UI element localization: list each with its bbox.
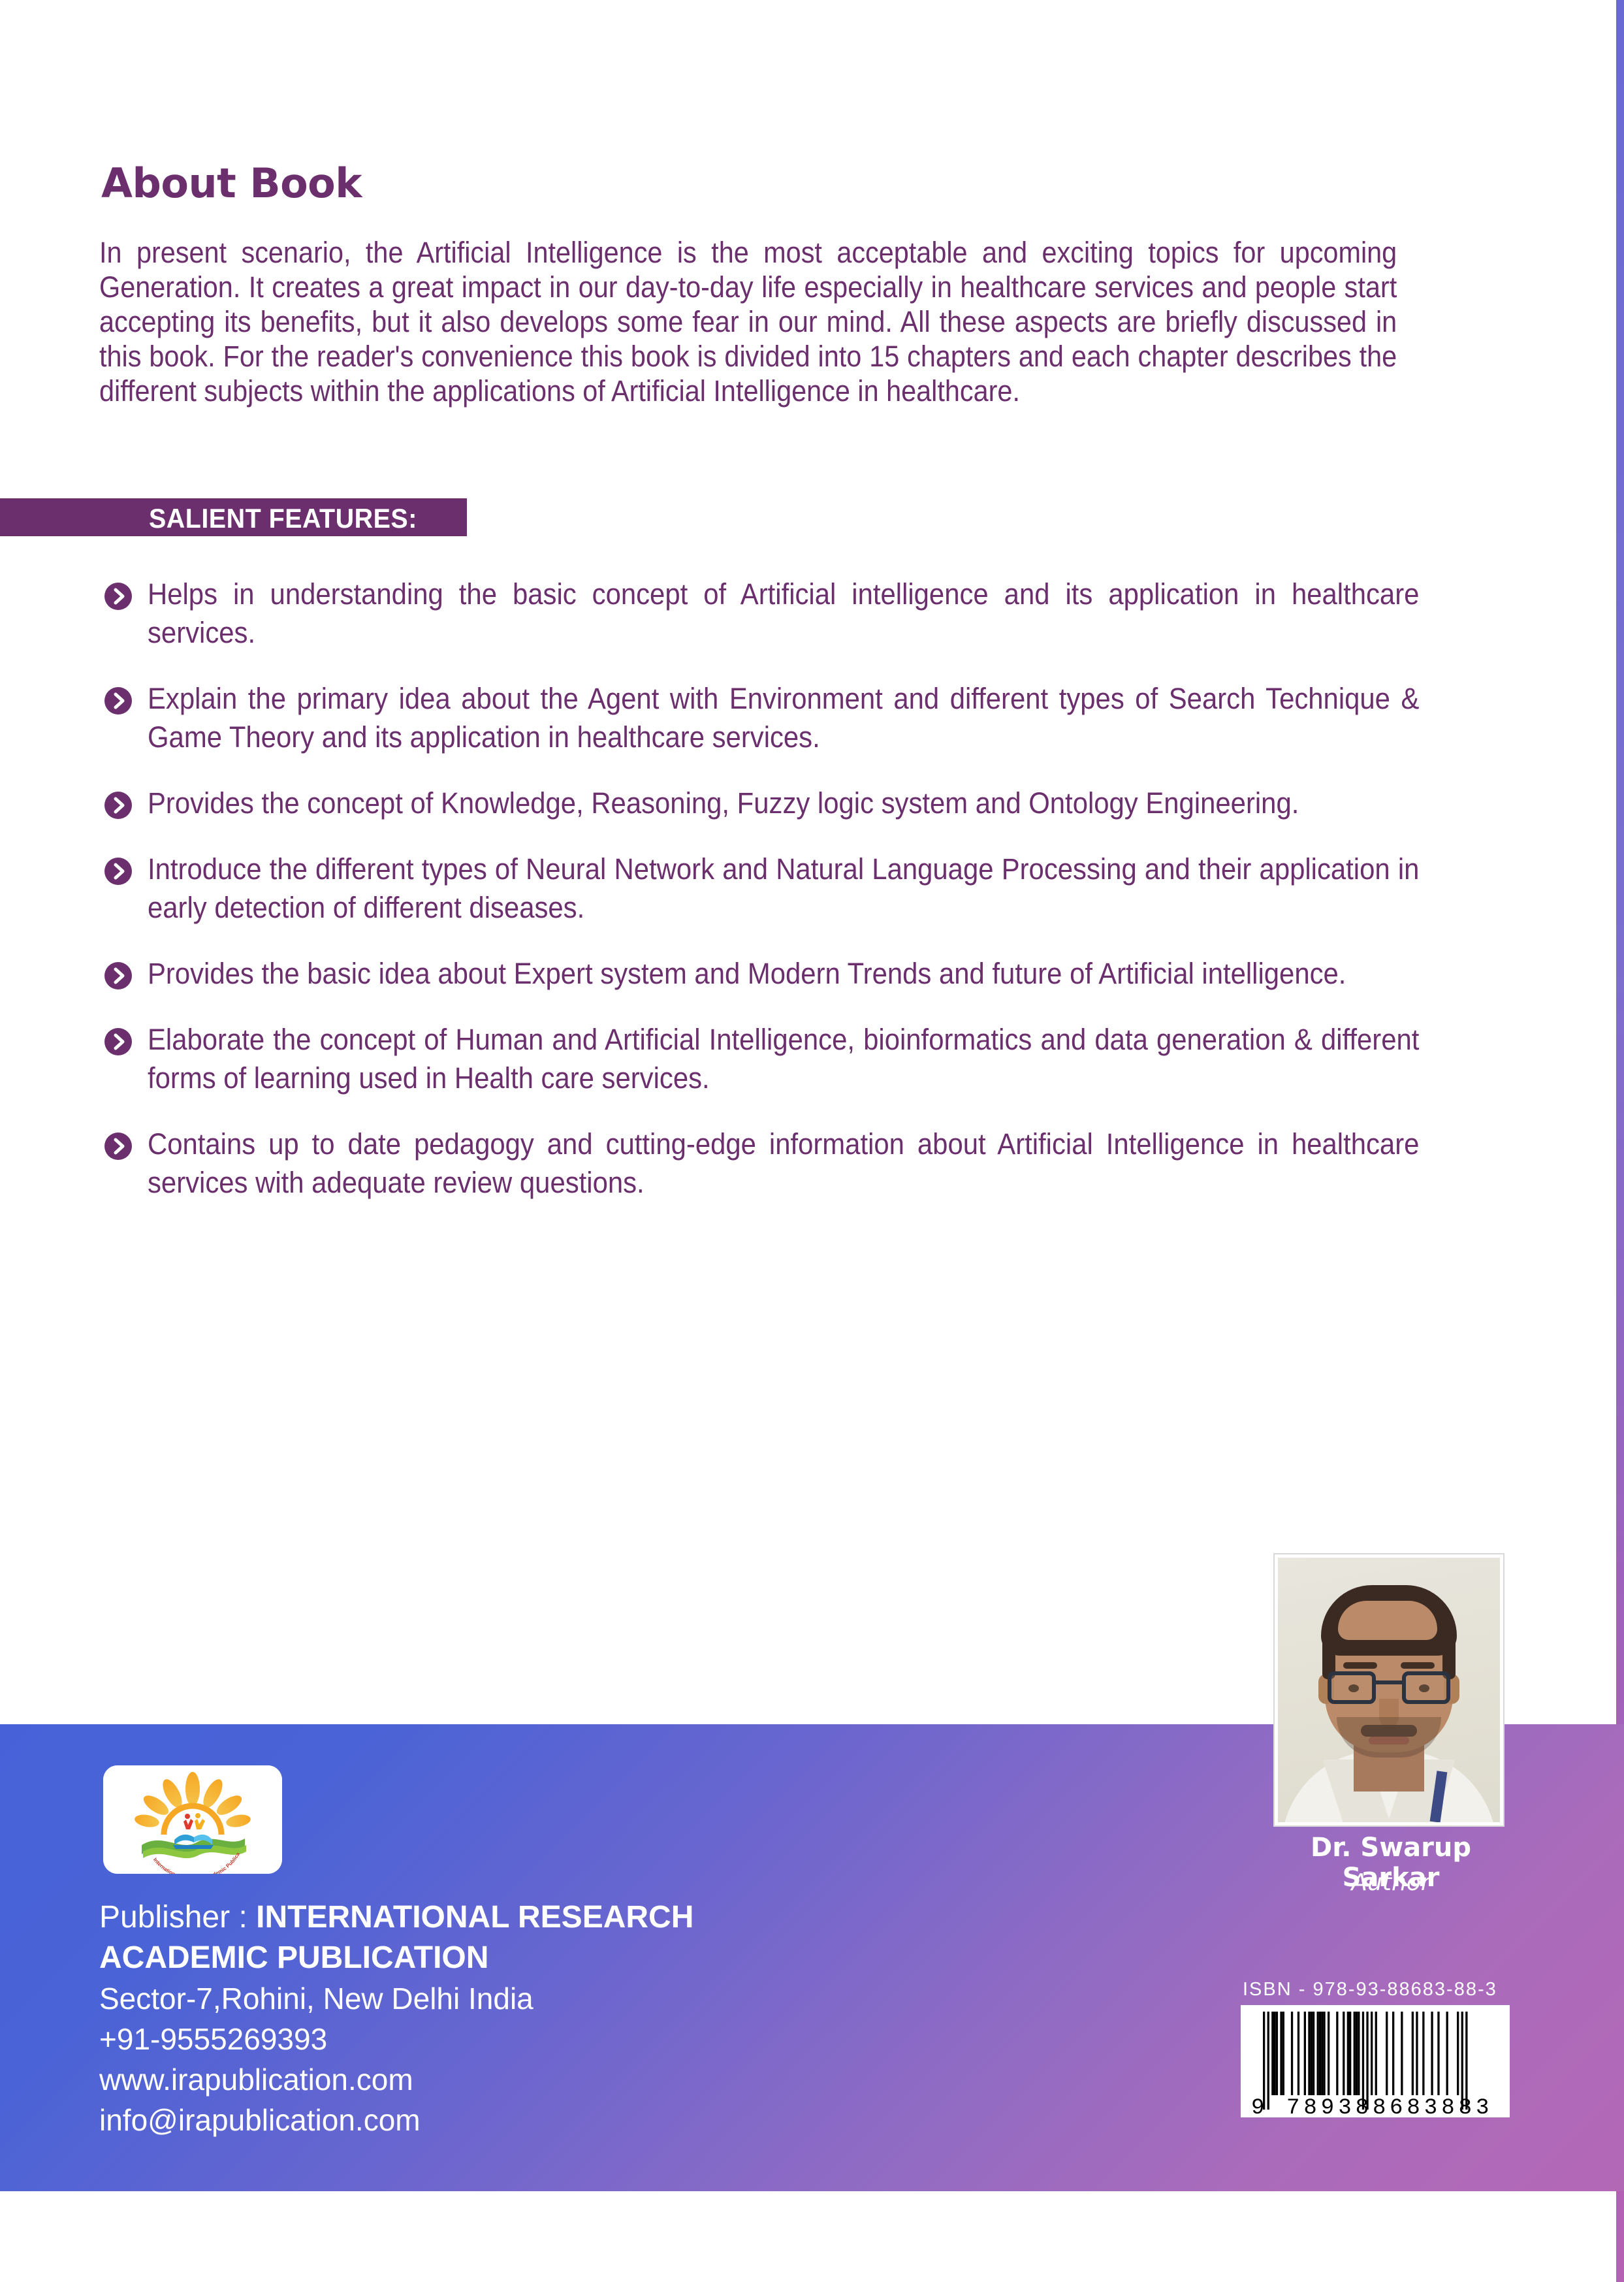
- salient-feature-text: Helps in understanding the basic concept…: [148, 575, 1419, 652]
- publisher-name-line2: ACADEMIC PUBLICATION: [99, 1938, 883, 1978]
- publisher-details: Publisher : INTERNATIONAL RESEARCH ACADE…: [99, 1897, 883, 2140]
- salient-feature-item: Contains up to date pedagogy and cutting…: [104, 1125, 1515, 1202]
- eyebrow-right: [1401, 1662, 1435, 1669]
- salient-feature-text: Explain the primary idea about the Agent…: [148, 679, 1419, 756]
- chevron-right-circle-icon: [104, 583, 132, 610]
- publisher-logo: International Research Academic Publicat…: [103, 1765, 282, 1874]
- publisher-label: Publisher :: [99, 1900, 256, 1935]
- eyebrow-left: [1343, 1662, 1377, 1669]
- salient-feature-text: Introduce the different types of Neural …: [148, 850, 1419, 927]
- lens-left: [1328, 1671, 1376, 1704]
- chevron-right-circle-icon: [104, 1133, 132, 1160]
- salient-feature-item: Elaborate the concept of Human and Artif…: [104, 1020, 1515, 1097]
- book-back-cover: About Book In present scenario, the Arti…: [0, 0, 1624, 2282]
- salient-feature-item: Helps in understanding the basic concept…: [104, 575, 1515, 652]
- chevron-right-circle-icon: [104, 1028, 132, 1055]
- head-shape: [1325, 1589, 1453, 1752]
- salient-features-list: Helps in understanding the basic concept…: [104, 575, 1515, 1229]
- publisher-name-part1: INTERNATIONAL RESEARCH: [256, 1900, 693, 1935]
- author-role: Author: [1260, 1869, 1521, 1896]
- salient-features-label: SALIENT FEATURES:: [149, 503, 417, 534]
- salient-feature-text: Provides the basic idea about Expert sys…: [148, 954, 1419, 993]
- chevron-right-circle-icon: [104, 858, 132, 885]
- moustache-shape: [1361, 1725, 1417, 1737]
- mouth-shape: [1369, 1737, 1409, 1744]
- salient-feature-item: Explain the primary idea about the Agent…: [104, 679, 1515, 756]
- about-book-heading: About Book: [101, 159, 362, 207]
- chevron-right-circle-icon: [104, 962, 132, 989]
- isbn-barcode: 9 789388 683883: [1241, 2005, 1510, 2117]
- lens-right: [1402, 1671, 1450, 1704]
- publisher-email[interactable]: info@irapublication.com: [99, 2100, 883, 2140]
- isbn-label: ISBN - 978-93-88683-88-3: [1243, 1979, 1497, 2001]
- chevron-right-circle-icon: [104, 792, 132, 819]
- publisher-name-line1: Publisher : INTERNATIONAL RESEARCH: [99, 1897, 883, 1938]
- salient-feature-text: Provides the concept of Knowledge, Reaso…: [148, 784, 1419, 822]
- salient-feature-text: Elaborate the concept of Human and Artif…: [148, 1020, 1419, 1097]
- salient-feature-item: Introduce the different types of Neural …: [104, 850, 1515, 927]
- author-photo: [1275, 1554, 1503, 1825]
- salient-feature-item: Provides the concept of Knowledge, Reaso…: [104, 784, 1515, 822]
- barcode-digits-mid: 789388: [1286, 2096, 1390, 2117]
- barcode-digits-right: 683883: [1390, 2096, 1493, 2117]
- salient-feature-item: Provides the basic idea about Expert sys…: [104, 954, 1515, 993]
- glasses-bridge: [1376, 1680, 1402, 1684]
- hair-shape: [1321, 1585, 1457, 1656]
- publisher-phone[interactable]: +91-9555269393: [99, 2019, 883, 2059]
- about-book-paragraph: In present scenario, the Artificial Inte…: [99, 235, 1397, 408]
- chevron-right-circle-icon: [104, 687, 132, 715]
- salient-feature-text: Contains up to date pedagogy and cutting…: [148, 1125, 1419, 1202]
- barcode-digit-left: 9: [1251, 2096, 1264, 2117]
- publisher-website[interactable]: www.irapublication.com: [99, 2059, 883, 2100]
- publisher-address: Sector-7,Rohini, New Delhi India: [99, 1978, 883, 2019]
